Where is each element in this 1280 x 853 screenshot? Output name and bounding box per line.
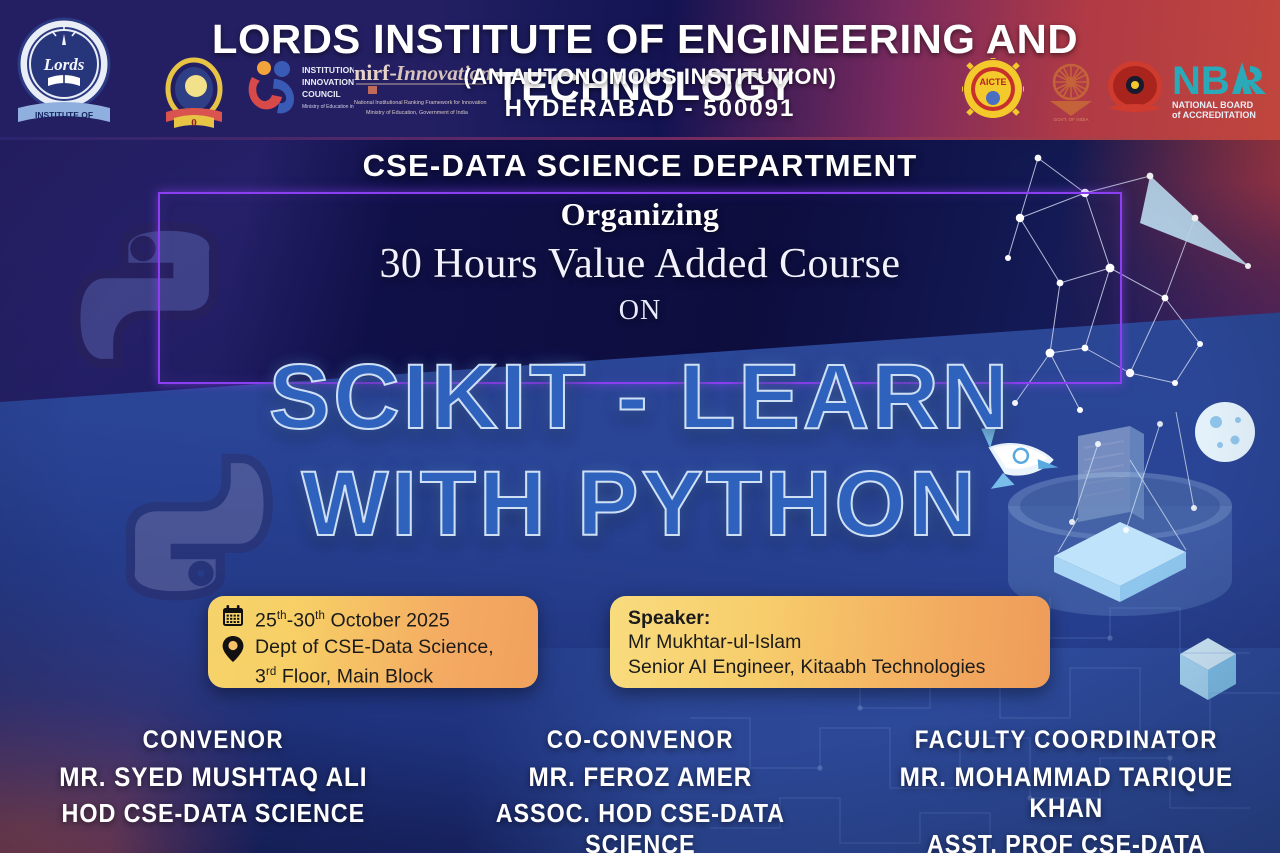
credit-role: CONVENOR	[21, 726, 405, 755]
credit-designation: HOD CSE-DATA SCIENCE	[21, 798, 405, 829]
credit-name: MR. FEROZ AMER	[448, 762, 832, 793]
credit-name: MR. SYED MUSHTAQ ALI	[21, 762, 405, 793]
course-title: 30 Hours Value Added Course	[0, 240, 1280, 288]
svg-text:GOVT. OF INDIA: GOVT. OF INDIA	[1054, 117, 1090, 122]
credit-role: FACULTY COORDINATOR	[875, 726, 1259, 755]
autonomous-line: (AN AUTONOMOUS INSTITUTION)	[300, 64, 1000, 90]
credit-designation: ASST. PROF CSE-DATA SCIENCE	[875, 829, 1259, 853]
speaker-name: Mr Mukhtar-ul-Islam	[628, 630, 1036, 655]
credits-row: CONVENOR MR. SYED MUSHTAQ ALI HOD CSE-DA…	[0, 726, 1280, 846]
poster-canvas: Lords INSTITUTE OF	[0, 0, 1280, 853]
svg-text:Lords: Lords	[43, 55, 85, 74]
date-venue-card: 25th-30th October 2025 Dept of CSE-Data …	[208, 596, 538, 688]
event-title-line-2: WITH PYTHON	[0, 452, 1280, 557]
venue-line-1: Dept of CSE-Data Science,	[255, 636, 494, 658]
location-line: HYDERABAD - 500091	[300, 95, 1000, 123]
svg-text:INSTITUTE OF: INSTITUTE OF	[35, 110, 93, 120]
credit-co-convenor: CO-CONVENOR MR. FEROZ AMER ASSOC. HOD CS…	[427, 726, 854, 846]
credit-designation: ASSOC. HOD CSE-DATA SCIENCE	[448, 798, 832, 853]
svg-text:0: 0	[191, 117, 197, 129]
on-label: ON	[0, 295, 1280, 327]
credit-faculty-coordinator: FACULTY COORDINATOR MR. MOHAMMAD TARIQUE…	[853, 726, 1280, 846]
speaker-heading: Speaker:	[628, 606, 1036, 630]
credit-name: MR. MOHAMMAD TARIQUE KHAN	[875, 762, 1259, 824]
speaker-card: Speaker: Mr Mukhtar-ul-Islam Senior AI E…	[610, 596, 1050, 688]
event-title-line-1: SCIKIT - LEARN	[0, 345, 1280, 450]
venue-text: Dept of CSE-Data Science, 3rd Floor, Mai…	[255, 635, 494, 690]
calendar-icon	[220, 604, 246, 628]
department-title: CSE-DATA SCIENCE DEPARTMENT	[0, 148, 1280, 184]
location-pin-icon	[220, 635, 246, 663]
credit-role: CO-CONVENOR	[448, 726, 832, 755]
speaker-designation: Senior AI Engineer, Kitaabh Technologies	[628, 655, 1036, 680]
event-date: 25th-30th October 2025	[255, 604, 450, 634]
poster-header: Lords INSTITUTE OF	[0, 0, 1280, 140]
svg-text:of ACCREDITATION: of ACCREDITATION	[1172, 110, 1256, 120]
organizing-label: Organizing	[0, 196, 1280, 233]
credit-convenor: CONVENOR MR. SYED MUSHTAQ ALI HOD CSE-DA…	[0, 726, 427, 846]
